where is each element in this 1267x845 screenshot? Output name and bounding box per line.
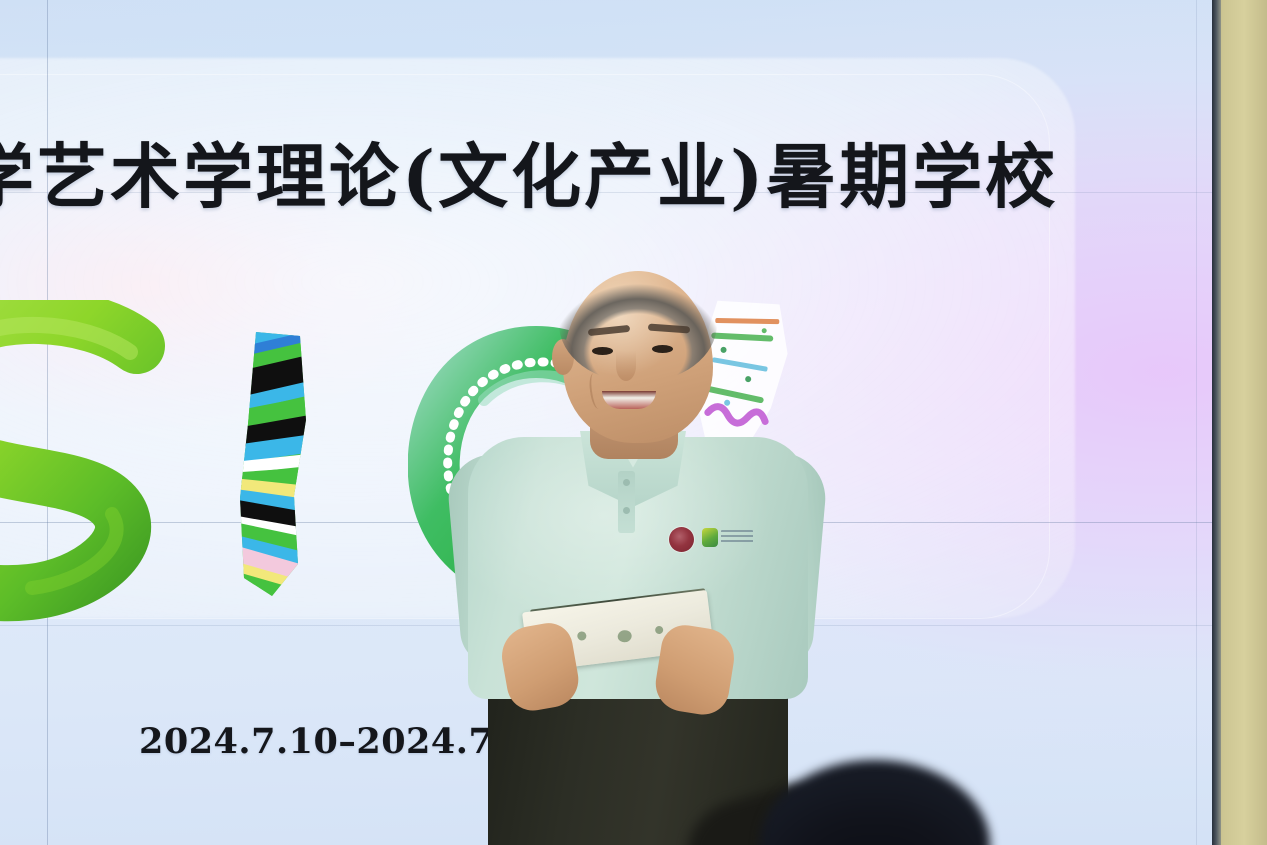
speaker-nose	[616, 351, 636, 381]
brush-letter-s-icon	[0, 300, 202, 630]
headline-title: 学艺术学理论(文化产业)暑期学校	[0, 121, 1058, 222]
striped-letter-i-icon	[228, 328, 314, 600]
shirt-logo-text	[721, 530, 753, 545]
screen-edge-shadow	[1212, 0, 1221, 845]
speaker-figure	[430, 255, 860, 845]
speaker-hair	[559, 265, 717, 383]
speaker-eye-left	[592, 347, 613, 355]
booklet-mark-2	[617, 629, 632, 643]
speaker-eye-right	[652, 345, 673, 353]
shirt-button-bottom	[623, 507, 630, 514]
university-seal-logo	[669, 527, 694, 552]
green-school-logo	[702, 528, 718, 547]
led-seam-vertical-right	[1196, 0, 1197, 845]
booklet-mark-1	[577, 631, 587, 641]
shirt-button-top	[623, 479, 630, 486]
stage-photo-scene: 学艺术学理论(文化产业)暑期学校 2024.7.10–2024.7.12	[0, 0, 1267, 845]
booklet-mark-3	[655, 626, 664, 635]
